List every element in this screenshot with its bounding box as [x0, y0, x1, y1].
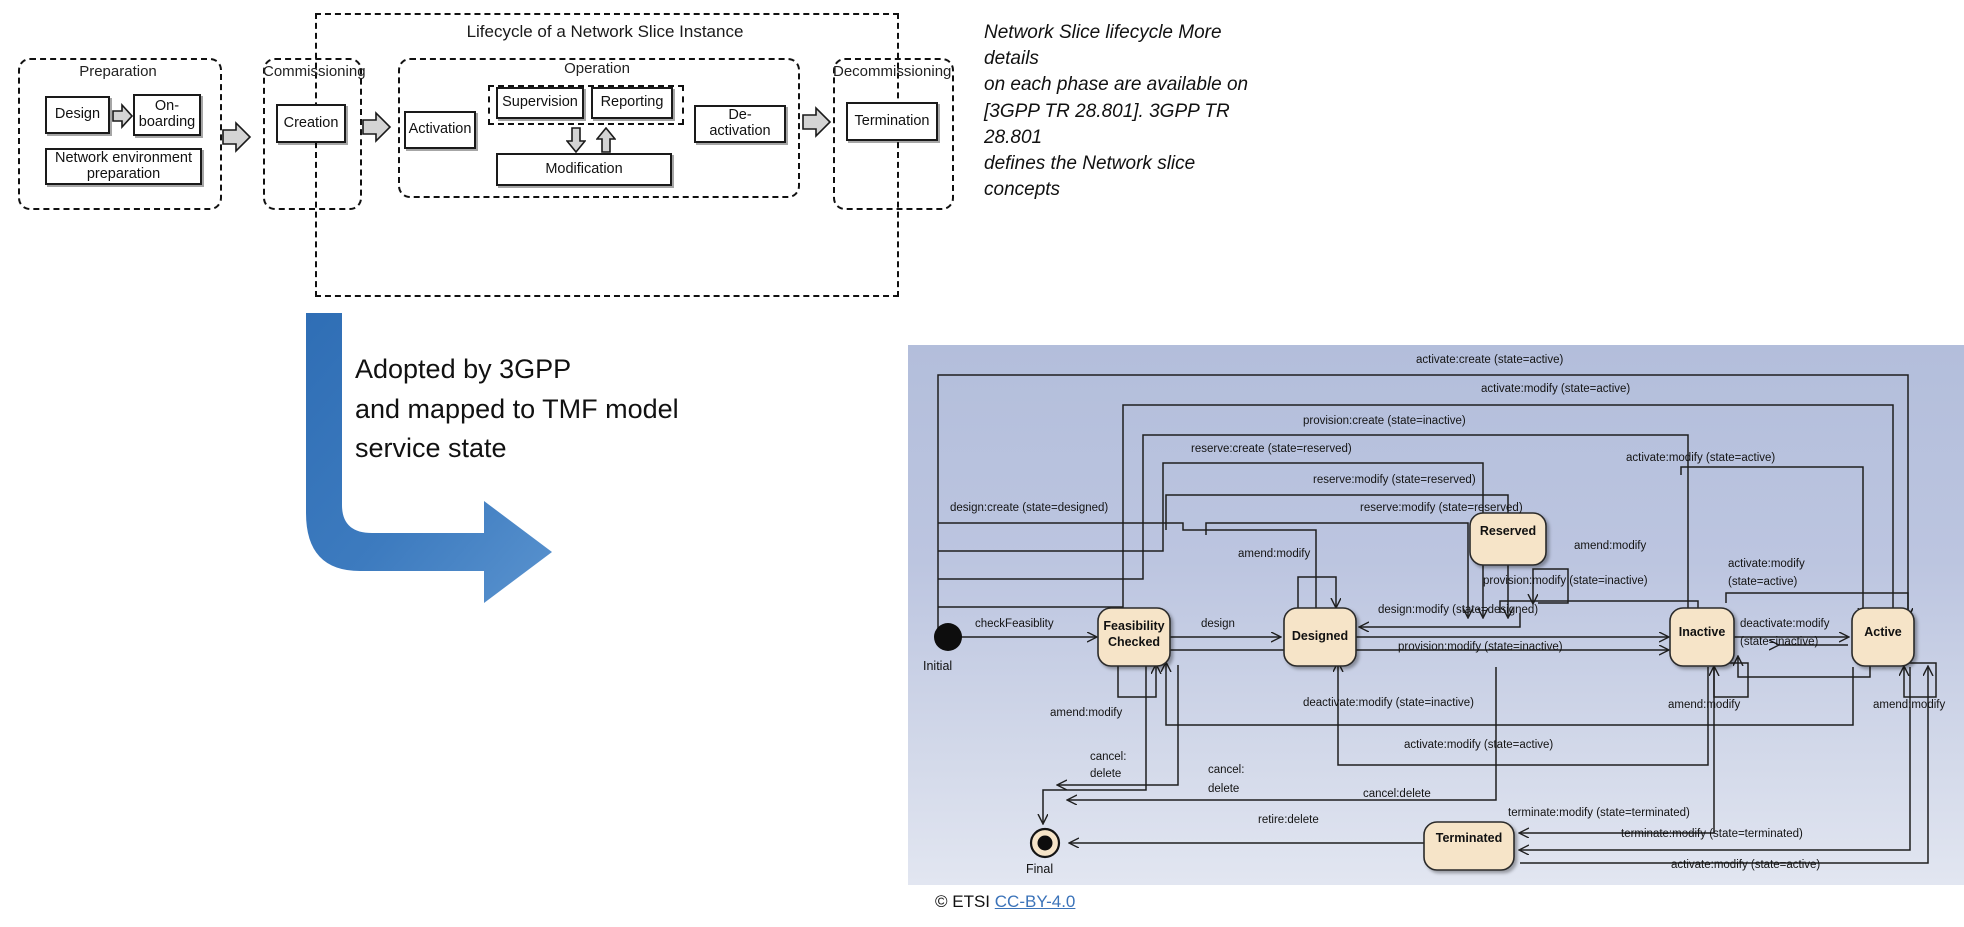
- lifecycle-note-text: Network Slice lifecycle More details on …: [984, 20, 1274, 204]
- arrow-down-to-modification: [566, 127, 586, 153]
- transition-label: activate:modify (state=active): [1404, 739, 1553, 751]
- box-deactivation: De-activation: [694, 105, 786, 143]
- transition-label: activate:modify (state=active): [1626, 452, 1775, 464]
- state-terminated-label: Terminated: [1436, 831, 1502, 845]
- transition-label: terminate:modify (state=terminated): [1508, 807, 1690, 819]
- transition-label: deactivate:modify: [1740, 618, 1830, 630]
- state-reserved-label: Reserved: [1480, 524, 1536, 538]
- phase-operation-label: Operation: [398, 60, 796, 77]
- state-inactive-label: Inactive: [1679, 625, 1726, 639]
- state-initial[interactable]: [934, 623, 962, 651]
- tmf-service-state-machine-panel: Initial Feasibility Checked Designed Res…: [908, 345, 1964, 885]
- copyright-footer: © ETSI CC-BY-4.0: [935, 892, 1075, 912]
- transition-label: delete: [1090, 768, 1121, 780]
- box-activation: Activation: [404, 111, 476, 149]
- transition-label: delete: [1208, 783, 1239, 795]
- box-creation: Creation: [276, 104, 346, 143]
- transition-label: reserve:modify (state=reserved): [1313, 474, 1476, 486]
- box-supervision: Supervision: [496, 87, 584, 119]
- transition-label: terminate:modify (state=terminated): [1621, 828, 1803, 840]
- state-final[interactable]: [1031, 829, 1059, 857]
- transition-label: amend:modify: [1050, 707, 1122, 719]
- arrow-operation-to-decommissioning: [802, 105, 832, 139]
- transition-label: retire:delete: [1258, 814, 1319, 826]
- transition-label: amend:modify: [1873, 699, 1945, 711]
- transition-label: activate:modify: [1728, 558, 1805, 570]
- transition-label: reserve:create (state=reserved): [1191, 443, 1352, 455]
- state-machine-svg: Initial Feasibility Checked Designed Res…: [908, 345, 1964, 885]
- state-designed-label: Designed: [1292, 629, 1348, 643]
- transition-label: provision:modify (state=inactive): [1398, 641, 1563, 653]
- small-arrow-design-to-onboarding: [112, 103, 134, 129]
- transition-label: provision:modify (state=inactive): [1483, 575, 1648, 587]
- transition-label: (state=inactive): [1740, 636, 1818, 648]
- transition-label: design: [1201, 618, 1235, 630]
- arrow-preparation-to-commissioning: [222, 120, 252, 154]
- state-initial-label: Initial: [923, 659, 952, 673]
- state-terminated[interactable]: Terminated: [1424, 822, 1514, 870]
- transition-label: design:modify (state=designed): [1378, 604, 1538, 616]
- state-active-label: Active: [1864, 625, 1902, 639]
- arrow-up-from-modification: [596, 127, 616, 153]
- box-design: Design: [45, 96, 110, 134]
- arrow-commissioning-to-operation: [362, 110, 392, 144]
- phase-decommissioning-label: Decommissioning: [833, 63, 950, 80]
- phase-commissioning-label: Commissioning: [263, 63, 358, 80]
- state-feasibility-checked-label-line1: Feasibility: [1103, 619, 1164, 633]
- transition-label: checkFeasiblity: [975, 618, 1054, 630]
- box-network-environment-preparation: Network environment preparation: [45, 148, 202, 185]
- state-active[interactable]: Active: [1852, 608, 1914, 666]
- transition-label: cancel:delete: [1363, 788, 1431, 800]
- transition-label: provision:create (state=inactive): [1303, 415, 1466, 427]
- box-modification: Modification: [496, 153, 672, 186]
- transition-label: amend:modify: [1668, 699, 1740, 711]
- transition-label: activate:modify (state=active): [1481, 383, 1630, 395]
- transition-label: amend:modify: [1574, 540, 1646, 552]
- state-inactive[interactable]: Inactive: [1670, 608, 1734, 666]
- transition-label: cancel:: [1090, 751, 1126, 763]
- transition-label: design:create (state=designed): [950, 502, 1108, 514]
- state-feasibility-checked[interactable]: Feasibility Checked: [1098, 608, 1170, 666]
- lifecycle-title: Lifecycle of a Network Slice Instance: [315, 22, 895, 42]
- state-feasibility-checked-label-line2: Checked: [1108, 635, 1160, 649]
- adopted-by-3gpp-text: Adopted by 3GPP and mapped to TMF model …: [355, 350, 755, 469]
- transition-label: deactivate:modify (state=inactive): [1303, 697, 1474, 709]
- copyright-text: © ETSI: [935, 892, 995, 911]
- phase-preparation-label: Preparation: [18, 63, 218, 80]
- transition-label: (state=active): [1728, 576, 1798, 588]
- transition-label-group: activate:create (state=active) activate:…: [950, 354, 1945, 871]
- cc-by-license-link[interactable]: CC-BY-4.0: [995, 892, 1076, 911]
- transition-label: activate:create (state=active): [1416, 354, 1564, 366]
- state-designed[interactable]: Designed: [1284, 608, 1356, 666]
- transition-label: reserve:modify (state=reserved): [1360, 502, 1523, 514]
- state-final-label: Final: [1026, 862, 1053, 876]
- box-onboarding: On- boarding: [133, 94, 201, 136]
- box-termination: Termination: [846, 102, 938, 141]
- box-reporting: Reporting: [591, 87, 673, 119]
- state-reserved[interactable]: Reserved: [1470, 513, 1546, 565]
- transition-label: activate:modify (state=active): [1671, 859, 1820, 871]
- transition-label: cancel:: [1208, 764, 1244, 776]
- transition-label: amend:modify: [1238, 548, 1310, 560]
